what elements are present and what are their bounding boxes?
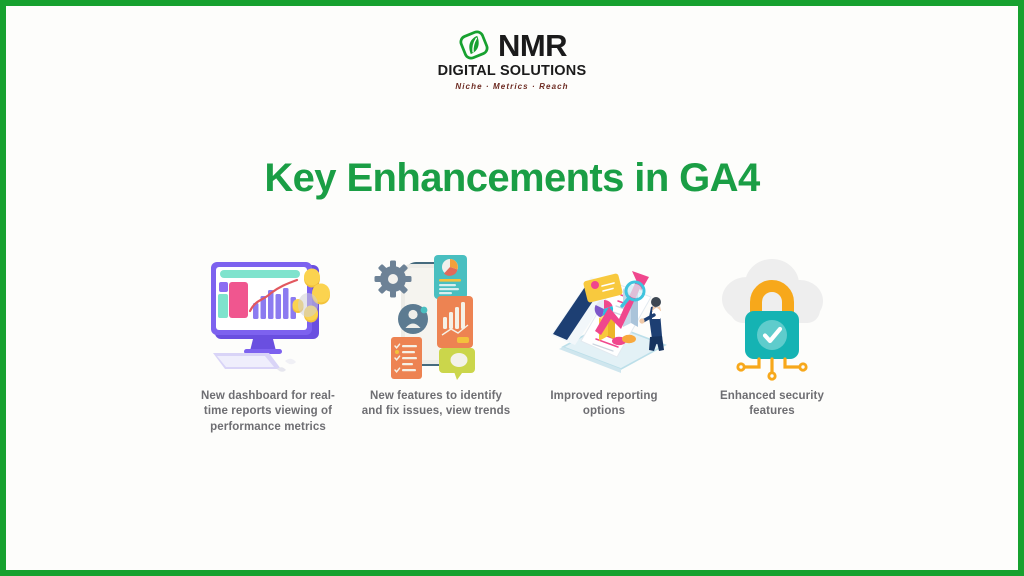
card-improved-reporting: Improved reporting options [520, 249, 688, 420]
nmr-leaf-square-logo-icon [457, 28, 491, 62]
card-caption: New features to identify and fix issues,… [361, 389, 511, 420]
cloud-padlock-security-illustration-icon [697, 249, 847, 381]
laptop-report-growth-arrow-illustration-icon [529, 249, 679, 381]
logo-row: NMR [457, 28, 567, 62]
dashboard-monitor-chart-illustration-icon [193, 249, 343, 381]
logo-subtitle: DIGITAL SOLUTIONS [438, 63, 587, 80]
logo-tagline: Niche · Metrics · Reach [455, 82, 568, 91]
slide-canvas: NMR DIGITAL SOLUTIONS Niche · Metrics · … [0, 0, 1024, 576]
card-new-features: New features to identify and fix issues,… [352, 249, 520, 420]
page-title: Key Enhancements in GA4 [6, 156, 1018, 201]
brand-logo: NMR DIGITAL SOLUTIONS Niche · Metrics · … [6, 28, 1018, 91]
mobile-analytics-gear-illustration-icon [361, 249, 511, 381]
card-caption: Enhanced security features [697, 389, 847, 420]
card-caption: Improved reporting options [529, 389, 679, 420]
enhancement-cards: New dashboard for real-time reports view… [184, 249, 856, 435]
card-enhanced-security: Enhanced security features [688, 249, 856, 420]
card-caption: New dashboard for real-time reports view… [193, 389, 343, 435]
logo-brand-name: NMR [498, 30, 567, 61]
card-new-dashboard: New dashboard for real-time reports view… [184, 249, 352, 435]
